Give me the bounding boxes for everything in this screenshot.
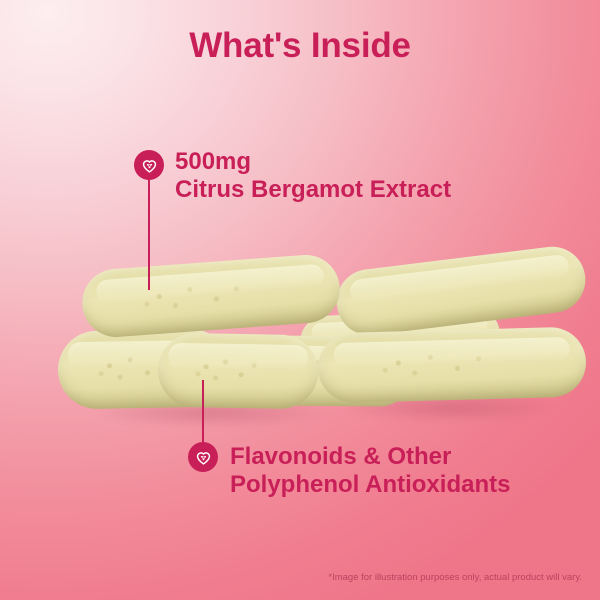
capsule-top-left — [80, 253, 342, 340]
disclaimer-footnote: *Image for illustration purposes only, a… — [328, 572, 582, 583]
leader-line-up — [202, 380, 204, 444]
heart-molecule-icon — [134, 150, 164, 180]
capsule-front-right — [317, 327, 587, 404]
capsule-pile-image — [0, 0, 600, 600]
leader-line-down — [148, 178, 150, 290]
callout-antioxidants-line2: Polyphenol Antioxidants — [230, 471, 510, 499]
callout-antioxidants-text: Flavonoids & Other Polyphenol Antioxidan… — [230, 443, 510, 500]
callout-dosage-line1: 500mg — [175, 148, 451, 176]
capsule-front-center — [157, 333, 318, 410]
callout-dosage-line2: Citrus Bergamot Extract — [175, 176, 451, 204]
product-infographic: What's Inside 500mg Citrus Bergamot Extr… — [0, 0, 600, 600]
callout-antioxidants-line1: Flavonoids & Other — [230, 443, 510, 471]
callout-dosage-text: 500mg Citrus Bergamot Extract — [175, 148, 451, 205]
heart-molecule-icon — [188, 442, 218, 472]
